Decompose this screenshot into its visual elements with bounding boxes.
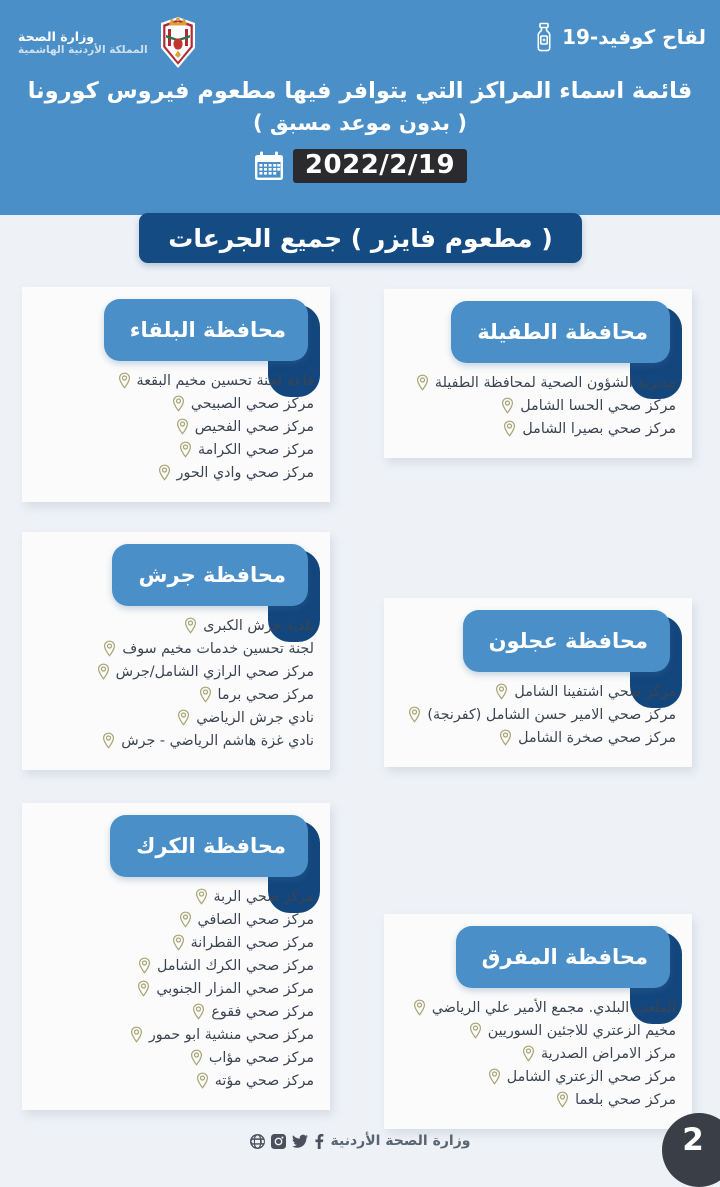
center-name: مركز صحي الزعتري الشامل [507,1069,676,1085]
vaccine-tag: لقاح كوفيد-19 [532,22,706,52]
card-header: محافظة المفرق [384,914,692,992]
map-pin-icon [179,911,192,928]
governorate-card-karak: محافظة الكرك مركز صحي الربة مركز صحي الص… [22,803,330,1110]
map-pin-icon [416,374,429,391]
center-name: نادي غزة هاشم الرياضي - جرش [121,733,314,749]
map-pin-icon [192,1003,205,1020]
list-item: مركز صحي اشتفينا الشامل [394,680,676,703]
center-name: مركز صحي الصافي [198,912,314,928]
center-list: قاعة لجنة تحسين مخيم البقعة مركز صحي الص… [22,365,330,502]
center-name: مركز الامراض الصدرية [541,1046,676,1062]
date-row: 2022/2/19 [0,149,720,183]
list-item: قاعة لجنة تحسين مخيم البقعة [32,369,314,392]
center-name: مخيم الزعتري للاجئين السوريين [488,1023,676,1039]
ministry-logo: وزارة الصحة المملكة الأردنية الهاشمية [18,14,201,72]
governorate-cards-board: محافظة الطفيلة مديرية الشؤون الصحية لمحا… [0,269,720,1169]
map-pin-icon [179,441,192,458]
map-pin-icon [190,1049,203,1066]
page-title-line2: ( بدون موعد مسبق ) [0,108,720,140]
center-name: مركز صحي صخرة الشامل [518,730,676,746]
card-title-tab: محافظة عجلون [463,610,670,672]
map-pin-icon [199,686,212,703]
governorate-card-tafilah: محافظة الطفيلة مديرية الشؤون الصحية لمحا… [384,289,692,458]
map-pin-icon [499,729,512,746]
map-pin-icon [501,397,514,414]
governorate-card-mafraq: محافظة المفرق الملعب البلدي. مجمع الأمير… [384,914,692,1129]
governorate-card-ajloun: محافظة عجلون مركز صحي اشتفينا الشامل مرك… [384,598,692,767]
center-name: مديرية الشؤون الصحية لمحافظة الطفيلة [435,375,676,391]
list-item: مركز صحي بلعما [394,1088,676,1111]
list-item: مركز صحي برما [32,683,314,706]
map-pin-icon [495,683,508,700]
facebook-icon[interactable] [314,1134,324,1149]
globe-icon[interactable] [250,1134,265,1149]
map-pin-icon [469,1022,482,1039]
list-item: الملعب البلدي. مجمع الأمير علي الرياضي [394,996,676,1019]
footer-ministry-label: وزارة الصحة الأردنية [331,1133,471,1149]
list-item: لجنة تحسين خدمات مخيم سوف [32,637,314,660]
map-pin-icon [102,732,115,749]
center-name: مركز صحي بلعما [575,1092,676,1108]
vaccine-type-banner: ( مطعوم فايزر ) جميع الجرعات [139,213,582,263]
center-list: بلدية جرش الكبرى لجنة تحسين خدمات مخيم س… [22,610,330,770]
vaccine-banner-wrap: ( مطعوم فايزر ) جميع الجرعات [0,213,720,269]
center-name: مركز صحي الحسا الشامل [520,398,676,414]
list-item: مركز صحي القطرانة [32,931,314,954]
list-item: مديرية الشؤون الصحية لمحافظة الطفيلة [394,371,676,394]
page-title-line1: قائمة اسماء المراكز التي يتوافر فيها مطع… [0,76,720,108]
map-pin-icon [103,640,116,657]
list-item: نادي جرش الرياضي [32,706,314,729]
list-item: مركز صحي مؤاب [32,1046,314,1069]
card-header: محافظة الكرك [22,803,330,881]
calendar-icon [253,150,285,182]
card-header: محافظة عجلون [384,598,692,676]
list-item: مركز صحي منشية ابو حمور [32,1023,314,1046]
center-name: لجنة تحسين خدمات مخيم سوف [122,641,314,657]
list-item: نادي غزة هاشم الرياضي - جرش [32,729,314,752]
list-item: مركز صحي الكرك الشامل [32,954,314,977]
center-list: مديرية الشؤون الصحية لمحافظة الطفيلة مرك… [384,367,692,458]
ministry-name: وزارة الصحة [18,29,148,45]
center-name: مركز صحي الكرك الشامل [157,958,314,974]
map-pin-icon [503,420,516,437]
card-title-tab: محافظة البلقاء [104,299,308,361]
governorate-card-jerash: محافظة جرش بلدية جرش الكبرى لجنة تحسين خ… [22,532,330,770]
page-title: قائمة اسماء المراكز التي يتوافر فيها مطع… [0,76,720,139]
list-item: مركز صحي الحسا الشامل [394,394,676,417]
center-name: مركز صحي فقوع [211,1004,314,1020]
center-name: مركز صحي الصبيحي [191,396,314,412]
card-header: محافظة البلقاء [22,287,330,365]
map-pin-icon [522,1045,535,1062]
center-name: الملعب البلدي. مجمع الأمير علي الرياضي [432,1000,676,1016]
list-item: مخيم الزعتري للاجئين السوريين [394,1019,676,1042]
center-name: مركز صحي المزار الجنوبي [156,981,314,997]
list-item: بلدية جرش الكبرى [32,614,314,637]
map-pin-icon [195,888,208,905]
list-item: مركز صحي الصبيحي [32,392,314,415]
list-item: مركز صحي وادي الحور [32,461,314,484]
center-name: مركز صحي اشتفينا الشامل [514,684,676,700]
map-pin-icon [172,395,185,412]
center-name: مركز صحي القطرانة [191,935,314,951]
map-pin-icon [158,464,171,481]
list-item: مركز صحي الفحيص [32,415,314,438]
center-name: مركز صحي منشية ابو حمور [149,1027,314,1043]
kingdom-name: المملكة الأردنية الهاشمية [18,44,148,57]
header-top-row: لقاح كوفيد-19 [0,0,720,72]
center-name: نادي جرش الرياضي [196,710,314,726]
map-pin-icon [97,663,110,680]
center-name: مركز صحي الامير حسن الشامل (كفرنجة) [427,707,676,723]
vaccine-tag-label: لقاح كوفيد-19 [562,25,706,49]
map-pin-icon [488,1068,501,1085]
map-pin-icon [176,418,189,435]
vaccine-bottle-icon [532,22,556,52]
list-item: مركز صحي الرازي الشامل/جرش [32,660,314,683]
center-list: مركز صحي الربة مركز صحي الصافي مركز صحي … [22,881,330,1110]
governorate-card-balqa: محافظة البلقاء قاعة لجنة تحسين مخيم البق… [22,287,330,502]
card-header: محافظة جرش [22,532,330,610]
center-name: مركز صحي وادي الحور [177,465,314,481]
center-name: مركز صحي بصيرا الشامل [522,421,676,437]
center-name: بلدية جرش الكبرى [203,618,314,634]
list-item: مركز صحي بصيرا الشامل [394,417,676,440]
center-name: مركز صحي مؤته [215,1073,314,1089]
center-list: الملعب البلدي. مجمع الأمير علي الرياضي م… [384,992,692,1129]
center-name: مركز صحي الربة [214,889,314,905]
card-title-tab: محافظة المفرق [456,926,670,988]
date-badge: 2022/2/19 [293,149,467,183]
center-name: مركز صحي الفحيص [195,419,314,435]
map-pin-icon [118,372,131,389]
map-pin-icon [413,999,426,1016]
map-pin-icon [408,706,421,723]
center-name: مركز صحي برما [218,687,315,703]
map-pin-icon [138,957,151,974]
list-item: مركز صحي الربة [32,885,314,908]
card-title-tab: محافظة الطفيلة [451,301,670,363]
list-item: مركز صحي صخرة الشامل [394,726,676,749]
list-item: مركز صحي الامير حسن الشامل (كفرنجة) [394,703,676,726]
center-name: مركز صحي الرازي الشامل/جرش [116,664,314,680]
center-name: قاعة لجنة تحسين مخيم البقعة [137,373,314,389]
map-pin-icon [196,1072,209,1089]
card-title-tab: محافظة الكرك [110,815,308,877]
center-list: مركز صحي اشتفينا الشامل مركز صحي الامير … [384,676,692,767]
map-pin-icon [130,1026,143,1043]
card-header: محافظة الطفيلة [384,289,692,367]
map-pin-icon [172,934,185,951]
page-header: لقاح كوفيد-19 [0,0,720,215]
map-pin-icon [184,617,197,634]
list-item: مركز صحي مؤته [32,1069,314,1092]
instagram-icon[interactable] [271,1134,286,1149]
list-item: مركز صحي فقوع [32,1000,314,1023]
card-title-tab: محافظة جرش [112,544,308,606]
list-item: مركز صحي المزار الجنوبي [32,977,314,1000]
center-name: مركز صحي مؤاب [209,1050,314,1066]
list-item: مركز الامراض الصدرية [394,1042,676,1065]
jordan-coat-of-arms-icon [155,14,201,72]
center-name: مركز صحي الكرامة [198,442,314,458]
ministry-text: وزارة الصحة المملكة الأردنية الهاشمية [18,29,148,58]
map-pin-icon [556,1091,569,1108]
twitter-icon[interactable] [292,1134,308,1149]
map-pin-icon [137,980,150,997]
list-item: مركز صحي الكرامة [32,438,314,461]
list-item: مركز صحي الزعتري الشامل [394,1065,676,1088]
social-icons [250,1134,324,1149]
map-pin-icon [177,709,190,726]
list-item: مركز صحي الصافي [32,908,314,931]
